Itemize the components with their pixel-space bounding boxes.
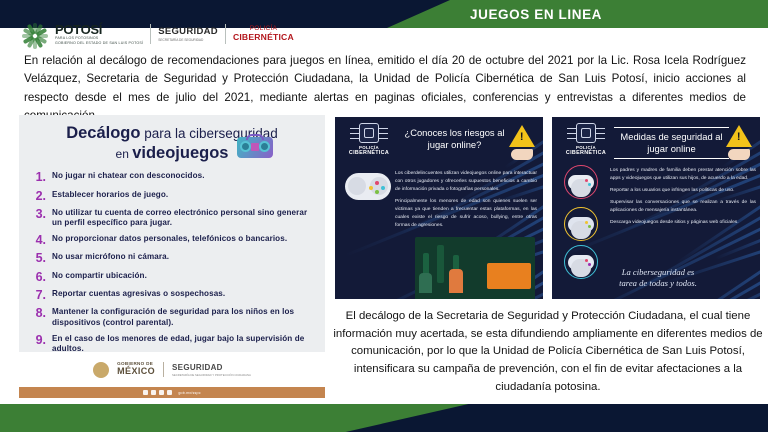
logo-bar: POTOSÍ PARA LOS POTOSINOS GOBIERNO DEL E… [22, 20, 294, 48]
mexico-text: MÉXICO [117, 367, 155, 376]
decalogo-item-text: Mantener la configuración de seguridad p… [52, 307, 311, 328]
footer-seguridad-sub: SECRETARÍA DE SEGURIDAD Y PROTECCIÓN CIU… [172, 373, 251, 377]
decalogo-header: Decálogo para la ciberseguridad en video… [19, 115, 325, 165]
policia-cibernetica-badge: POLICÍA CIBERNÉTICA [560, 123, 612, 156]
social-bar: gob.mx/sspc [19, 387, 325, 398]
decalogo-item-number: 3. [31, 208, 46, 221]
risks-card-body: Los ciberdelincuentes utilizan videojueg… [395, 170, 537, 234]
measures-card: POLICÍA CIBERNÉTICA Medidas de seguridad… [550, 115, 762, 301]
decalogo-list: 1.No jugar ni chatear con desconocidos.2… [19, 171, 325, 381]
card-paragraph: Descarga videojuegos desde sitios y pági… [610, 219, 756, 227]
decalogo-item-number: 7. [31, 289, 46, 302]
measures-card-title: Medidas de seguridad al jugar online [614, 127, 729, 159]
closing-line-1: La ciberseguridad es [562, 267, 754, 279]
potosi-wordmark: POTOSÍ PARA LOS POTOSINOS GOBIERNO DEL E… [55, 23, 143, 45]
measures-card-body: Los padres y madres de familia deben pre… [610, 167, 756, 231]
decalogo-title-line2-pre: en [116, 147, 133, 161]
card-paragraph: Principalmente los menores de edad son q… [395, 198, 537, 230]
divider [150, 24, 151, 44]
decalogo-item-text: No jugar ni chatear con desconocidos. [52, 171, 205, 182]
eagle-seal-icon [93, 362, 109, 378]
badge-cibernetica-text: CIBERNÉTICA [560, 150, 612, 156]
twitter-icon[interactable] [151, 390, 156, 395]
decalogo-item-number: 2. [31, 190, 46, 203]
hand-icon [511, 149, 533, 160]
decalogo-item-number: 6. [31, 271, 46, 284]
gamepad-ring-icon-1 [564, 165, 598, 199]
decalogo-item-text: No utilizar tu cuenta de correo electrón… [52, 208, 311, 229]
decalogo-item: 3.No utilizar tu cuenta de correo electr… [31, 208, 311, 229]
seguridad-sub-text: SECRETARÍA DE SEGURIDAD [158, 38, 218, 42]
youtube-icon[interactable] [167, 390, 172, 395]
footer-seguridad-text: SEGURIDAD [172, 363, 251, 372]
seguridad-text: SEGURIDAD [158, 26, 218, 37]
card-paragraph: Supervisar las conversaciones que se rea… [610, 199, 756, 215]
social-url-text: gob.mx/sspc [178, 391, 200, 395]
gaming-illustration [415, 237, 535, 299]
risks-card-title: ¿Conoces los riesgos al jugar online? [397, 127, 512, 151]
potosi-tiny-text: GOBIERNO DEL ESTADO DE SAN LUIS POTOSÍ [55, 42, 143, 46]
warning-exclamation-icon: ! [520, 132, 524, 143]
closing-line-2: tarea de todas y todos. [562, 278, 754, 290]
chip-icon [576, 123, 596, 143]
hand-icon [728, 149, 750, 160]
decalogo-item-text: No compartir ubicación. [52, 271, 147, 282]
gobierno-logo-row: GOBIERNO DE MÉXICO SEGURIDAD SECRETARÍA … [19, 352, 325, 387]
card-paragraph: Reportar a los usuarios que infringen la… [610, 187, 756, 195]
boombox-icon [237, 137, 273, 158]
slide: JUEGOS EN LINEA POTOSÍ PARA LOS POTOSINO… [0, 0, 768, 432]
decalogo-item: 1.No jugar ni chatear con desconocidos. [31, 171, 311, 184]
facebook-icon[interactable] [143, 390, 148, 395]
gamepad-ring-icon-2 [564, 207, 598, 241]
decalogo-title-line2-bold: videojuegos [132, 144, 228, 162]
cibernetica-text: CIBERNÉTICA [233, 33, 294, 42]
decalogo-item-text: Reportar cuentas agresivas o sospechosas… [52, 289, 225, 300]
potosi-sub-text: PARA LOS POTOSINOS [55, 37, 143, 41]
decalogo-item-number: 8. [31, 307, 46, 320]
policia-cibernetica-badge: POLICÍA CIBERNÉTICA [343, 123, 395, 156]
decalogo-item: 2.Establecer horarios de juego. [31, 190, 311, 203]
chip-icon [359, 123, 379, 143]
decalogo-item: 8.Mantener la configuración de seguridad… [31, 307, 311, 328]
decalogo-item-number: 9. [31, 334, 46, 347]
risks-card: POLICÍA CIBERNÉTICA ¿Conoces los riesgos… [333, 115, 545, 301]
divider [225, 24, 226, 44]
decalogo-item: 7.Reportar cuentas agresivas o sospechos… [31, 289, 311, 302]
policia-cibernetica-wordmark: POLICÍA CIBERNÉTICA [233, 26, 294, 42]
decalogo-item-number: 4. [31, 234, 46, 247]
instagram-icon[interactable] [159, 390, 164, 395]
decalogo-item: 4.No proporcionar datos personales, tele… [31, 234, 311, 247]
decalogo-card: Decálogo para la ciberseguridad en video… [19, 115, 325, 398]
decalogo-item: 6.No compartir ubicación. [31, 271, 311, 284]
closing-paragraph: El decálogo de la Secretaria de Segurida… [333, 308, 763, 396]
footer-seguridad-wordmark: SEGURIDAD SECRETARÍA DE SEGURIDAD Y PROT… [172, 363, 251, 377]
warning-exclamation-icon: ! [737, 132, 741, 143]
page-title: JUEGOS EN LINEA [470, 0, 602, 28]
potosi-leaf-icon [22, 21, 48, 47]
decalogo-item: 5.No usar micrófono ni cámara. [31, 252, 311, 265]
bottom-navy-bar [638, 404, 768, 432]
gobierno-wordmark: GOBIERNO DE MÉXICO [117, 362, 155, 376]
decalogo-item-text: Establecer horarios de juego. [52, 190, 168, 201]
divider [163, 362, 164, 377]
seguridad-wordmark: SEGURIDAD SECRETARÍA DE SEGURIDAD [158, 26, 218, 43]
decalogo-item-number: 5. [31, 252, 46, 265]
badge-cibernetica-text: CIBERNÉTICA [343, 150, 395, 156]
measures-closing-text: La ciberseguridad es tarea de todas y to… [562, 267, 754, 290]
gamepad-icon [345, 173, 391, 200]
card-paragraph: Los padres y madres de familia deben pre… [610, 167, 756, 183]
decalogo-footer: GOBIERNO DE MÉXICO SEGURIDAD SECRETARÍA … [19, 352, 325, 398]
decalogo-item-text: No usar micrófono ni cámara. [52, 252, 169, 263]
decalogo-item-text: No proporcionar datos personales, telefó… [52, 234, 287, 245]
decalogo-title-bold: Decálogo [66, 124, 140, 142]
card-paragraph: Los ciberdelincuentes utilizan videojueg… [395, 170, 537, 194]
potosi-main-text: POTOSÍ [55, 23, 143, 36]
decalogo-item-number: 1. [31, 171, 46, 184]
